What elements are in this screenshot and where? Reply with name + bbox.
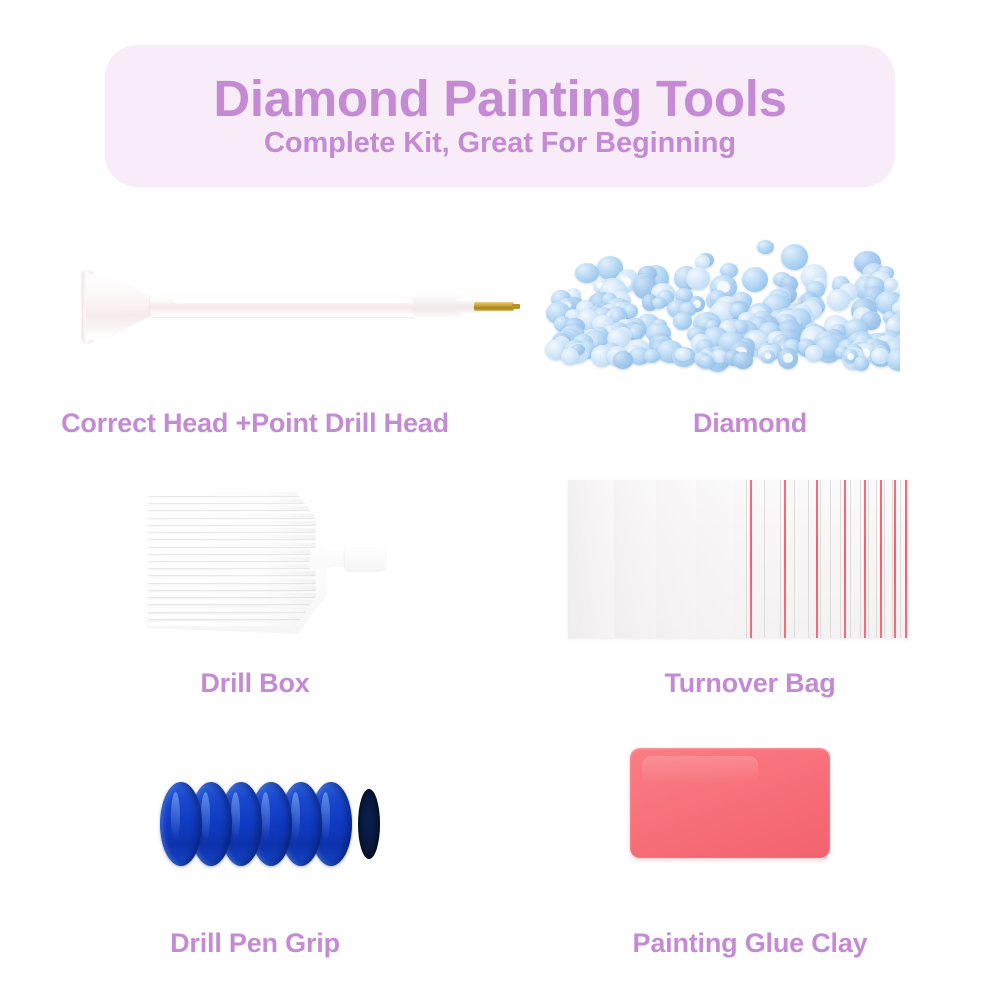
bag-fold-line [850,480,851,638]
bag-seal-line [905,480,907,638]
pen-point-drill-tip [474,302,514,311]
tray-handle [345,548,385,570]
tray-ridge [148,579,316,583]
page-subtitle: Complete Kit, Great For Beginning [264,128,736,158]
product-label: Painting Glue Clay [520,928,980,959]
tray-ridge [148,608,316,612]
bag-fold-line [794,480,795,638]
grip-segment [160,782,202,866]
bag-fold-line [868,480,869,638]
bag-fold-line [830,480,831,638]
bag-shade-band [614,480,656,638]
bag-shade-band [734,480,764,638]
tray-ridge [148,535,316,539]
drill-pen-illustration [58,258,508,358]
tray-ridge [148,499,316,503]
bag-fold-line [876,480,877,638]
product-label: Turnover Bag [520,668,980,699]
diamond-pile-illustration [542,218,900,378]
product-row: Drill Box Turnover Bag [0,470,1000,730]
drill-tray-illustration [142,484,387,634]
bag-shade-band [568,480,614,638]
bag-seal-line [750,480,752,638]
pen-ferrule [413,293,461,319]
bag-seal-line [880,480,882,638]
bag-seal-line [844,480,846,638]
bag-fold-line [884,480,885,638]
product-label: Diamond [520,408,980,439]
tray-ridge [148,506,316,510]
product-label: Drill Box [20,668,490,699]
drill-pen-icon [20,210,490,410]
tray-ridge [148,586,316,590]
bag-shade-band [656,480,696,638]
tray-ridge [148,514,316,518]
tray-ridge [148,521,316,525]
bag-shade-band [696,480,734,638]
pen-correct-head [86,274,158,340]
product-cell-drill-box: Drill Box [20,470,490,730]
product-label: Correct Head +Point Drill Head [20,408,490,439]
bag-fold-line [900,480,901,638]
page-title: Diamond Painting Tools [213,73,786,125]
tray-ridge [148,571,316,575]
product-label: Drill Pen Grip [20,928,490,959]
grip-open-end [358,789,380,859]
product-cell-drill-pen-grip: Drill Pen Grip [20,730,490,990]
pen-tip-end [512,304,520,309]
bag-seal-line [864,480,866,638]
product-cell-diamond: Diamond [520,210,980,470]
tray-ridge [148,528,316,532]
bag-fold-line [840,480,841,638]
tray-ridge [148,543,316,547]
bag-fold-line [746,480,747,638]
product-row: Drill Pen Grip Painting Glue Clay [0,730,1000,990]
tray-ridge [148,615,316,619]
product-grid: Correct Head +Point Drill Head Diamond [0,210,1000,990]
product-cell-painting-glue-clay: Painting Glue Clay [520,730,980,990]
product-cell-turnover-bag: Turnover Bag [520,470,980,730]
glue-clay-illustration [630,748,830,858]
zip-bag-illustration [568,480,908,638]
glue-clay-icon [520,730,980,930]
pen-shaft [150,295,455,317]
tray-ridges [148,492,316,626]
tray-ridge [148,564,316,568]
bag-seal-line [816,480,818,638]
header-banner: Diamond Painting Tools Complete Kit, Gre… [105,45,895,187]
bag-seal-line [784,480,786,638]
pen-grip-illustration [160,782,380,868]
pen-grip-icon [20,730,490,930]
bag-fold-line [892,480,893,638]
zip-bag-icon [520,470,980,670]
tray-ridge [148,557,316,561]
bag-fold-line [820,480,821,638]
product-cell-correct-head-point-drill-head: Correct Head +Point Drill Head [20,210,490,470]
tray-ridge [148,622,316,626]
bag-fold-line [808,480,809,638]
tray-ridge [148,600,316,604]
product-infographic: Diamond Painting Tools Complete Kit, Gre… [0,0,1000,1000]
diamond-drills-icon [520,210,980,410]
tray-ridge [148,492,316,496]
tray-ridge [148,550,316,554]
bag-fold-line [860,480,861,638]
bag-fold-line [764,480,765,638]
tray-ridge [148,593,316,597]
bag-fold-line [780,480,781,638]
product-row: Correct Head +Point Drill Head Diamond [0,210,1000,470]
bag-seal-line [894,480,896,638]
drill-tray-icon [20,470,490,670]
